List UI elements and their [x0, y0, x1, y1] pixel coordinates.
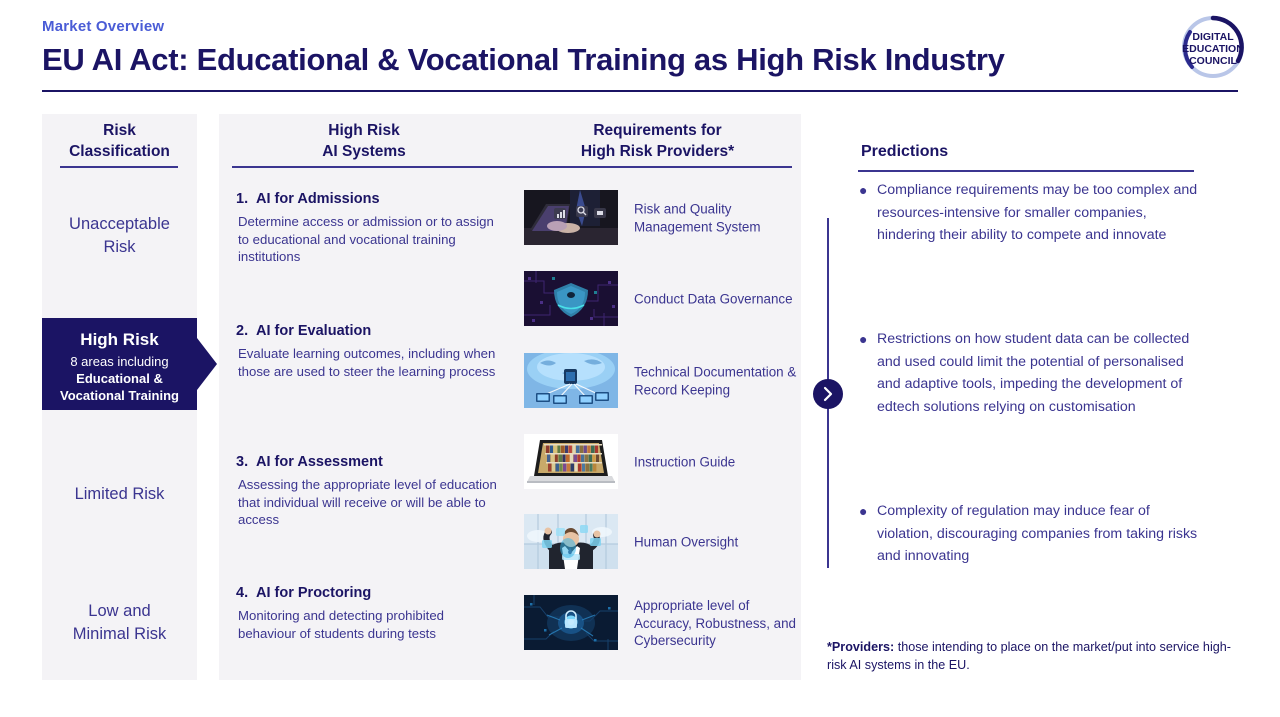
ai-system-description: Monitoring and detecting prohibited beha…	[236, 607, 498, 642]
digital-education-council-logo: DIGITAL EDUCATION COUNCIL	[1180, 14, 1246, 80]
requirements-heading-line1: Requirements for	[593, 122, 721, 139]
requirement-item: Human Oversight	[524, 514, 794, 570]
risk-level-unacceptable: Unacceptable Risk	[42, 213, 197, 259]
shield-circuit-photo	[524, 271, 618, 326]
ai-system-item: 1.AI for Admissions Determine access or …	[236, 190, 498, 266]
high-risk-sub-line3: Vocational Training	[60, 388, 179, 403]
businessman-interface-photo	[524, 514, 618, 569]
prediction-text: Compliance requirements may be too compl…	[859, 179, 1204, 247]
predictions-heading-divider	[858, 170, 1194, 172]
systems-heading-divider	[232, 166, 792, 168]
ai-system-number: 4.	[236, 584, 256, 603]
ai-system-title: 2.AI for Evaluation	[236, 322, 498, 341]
prediction-item: ● Restrictions on how student data can b…	[859, 328, 1204, 418]
cyber-lock-photo	[524, 595, 618, 650]
requirement-label: Risk and Quality Management System	[634, 201, 799, 236]
ai-system-item: 2.AI for Evaluation Evaluate learning ou…	[236, 322, 498, 380]
risk-level-limited: Limited Risk	[42, 483, 197, 506]
prediction-item: ● Compliance requirements may be too com…	[859, 179, 1204, 247]
logo-line-3: COUNCIL	[1189, 55, 1237, 67]
requirement-label: Instruction Guide	[634, 453, 799, 471]
requirement-label: Technical Documentation & Record Keeping	[634, 364, 799, 399]
requirement-label: Human Oversight	[634, 533, 799, 551]
header-divider	[42, 90, 1238, 92]
requirements-heading-line2: High Risk Providers*	[581, 143, 734, 160]
ai-system-name: AI for Proctoring	[256, 585, 371, 601]
logo-line-1: DIGITAL	[1192, 31, 1234, 43]
ai-systems-heading-line2: AI Systems	[322, 143, 406, 160]
ai-system-number: 2.	[236, 322, 256, 341]
requirement-item: Technical Documentation & Record Keeping	[524, 353, 794, 409]
requirement-item: Conduct Data Governance	[524, 271, 794, 327]
page-title: EU AI Act: Educational & Vocational Trai…	[42, 42, 1005, 78]
ai-system-number: 3.	[236, 453, 256, 472]
prediction-text: Restrictions on how student data can be …	[859, 328, 1204, 418]
bullet-icon: ●	[859, 179, 867, 202]
column-heading-risk-classification: Risk Classification	[42, 120, 197, 162]
ai-system-description: Determine access or admission or to assi…	[236, 213, 498, 266]
footnote-label: *Providers:	[827, 640, 894, 654]
ai-system-title: 3.AI for Assessment	[236, 453, 498, 472]
high-risk-sub-line1: 8 areas including	[70, 354, 168, 369]
ai-system-name: AI for Assessment	[256, 454, 383, 470]
risk-limited-label: Limited Risk	[75, 485, 165, 503]
ai-system-title: 1.AI for Admissions	[236, 190, 498, 209]
slide-root: Market Overview EU AI Act: Educational &…	[0, 0, 1280, 717]
requirement-label: Conduct Data Governance	[634, 290, 799, 308]
laptop-bookshelf-photo	[524, 434, 618, 489]
ai-system-description: Assessing the appropriate level of educa…	[236, 476, 498, 529]
requirement-item: Appropriate level of Accuracy, Robustnes…	[524, 595, 794, 651]
column-heading-requirements: Requirements for High Risk Providers*	[520, 120, 795, 162]
requirement-label: Appropriate level of Accuracy, Robustnes…	[634, 597, 799, 650]
network-globe-photo	[524, 353, 618, 408]
ai-system-number: 1.	[236, 190, 256, 209]
laptop-hands-photo	[524, 190, 618, 245]
ai-system-item: 4.AI for Proctoring Monitoring and detec…	[236, 584, 498, 642]
prediction-text: Complexity of regulation may induce fear…	[859, 500, 1204, 568]
bullet-icon: ●	[859, 500, 867, 523]
logo-line-2: EDUCATION	[1182, 43, 1244, 55]
eyebrow-label: Market Overview	[42, 18, 164, 35]
chevron-right-icon	[813, 379, 843, 409]
ai-systems-heading-line1: High Risk	[328, 122, 399, 139]
risk-level-low-minimal: Low and Minimal Risk	[42, 600, 197, 646]
ai-system-title: 4.AI for Proctoring	[236, 584, 498, 603]
ai-system-name: AI for Admissions	[256, 191, 380, 207]
risk-unacceptable-line2: Risk	[103, 238, 135, 256]
high-risk-title: High Risk	[42, 329, 197, 351]
high-risk-subtext: 8 areas including Educational & Vocation…	[42, 353, 197, 404]
risk-classification-heading-line2: Classification	[69, 143, 170, 160]
requirement-item: Instruction Guide	[524, 434, 794, 490]
high-risk-sub-line2: Educational &	[76, 371, 163, 386]
footnote: *Providers: those intending to place on …	[827, 638, 1237, 674]
risk-classification-heading-line1: Risk	[103, 122, 136, 139]
predictions-heading: Predictions	[861, 143, 948, 161]
risk-level-high-risk: High Risk 8 areas including Educational …	[42, 318, 197, 410]
requirement-item: Risk and Quality Management System	[524, 190, 794, 246]
risk-heading-divider	[60, 166, 178, 168]
risk-low-line1: Low and	[88, 602, 150, 620]
ai-system-description: Evaluate learning outcomes, including wh…	[236, 345, 498, 380]
risk-unacceptable-line1: Unacceptable	[69, 215, 170, 233]
prediction-item: ● Complexity of regulation may induce fe…	[859, 500, 1204, 568]
bullet-icon: ●	[859, 328, 867, 351]
high-risk-arrow-icon	[197, 338, 217, 390]
ai-system-item: 3.AI for Assessment Assessing the approp…	[236, 453, 498, 529]
risk-low-line2: Minimal Risk	[73, 625, 167, 643]
ai-system-name: AI for Evaluation	[256, 323, 371, 339]
column-heading-high-risk-ai-systems: High Risk AI Systems	[240, 120, 488, 162]
